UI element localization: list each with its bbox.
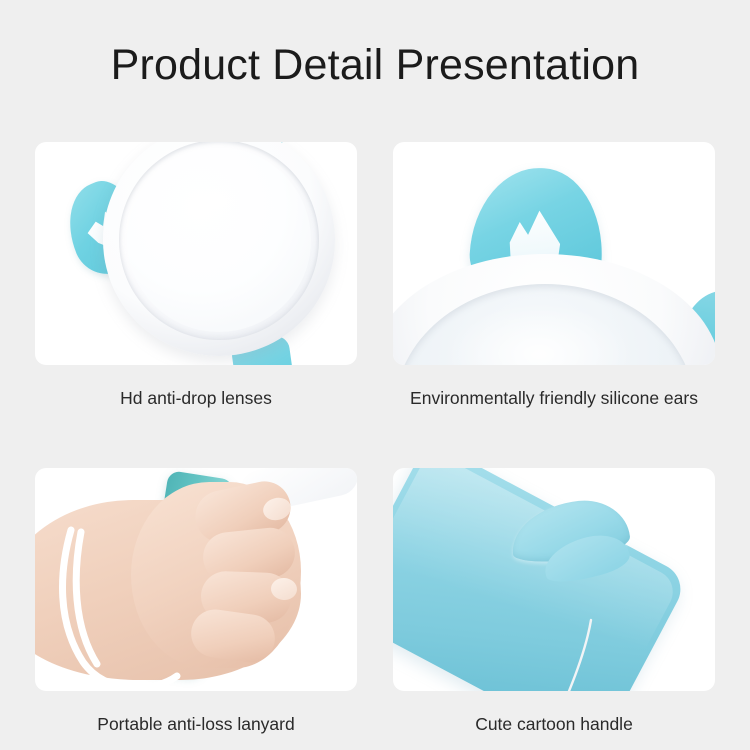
magnifier-lens-illustration <box>35 142 357 365</box>
panel-handle-photo <box>393 468 715 691</box>
panel-handle: Cute cartoon handle <box>393 468 715 734</box>
panel-ears-caption: Environmentally friendly silicone ears <box>393 365 715 408</box>
lens-highlight <box>449 304 629 365</box>
magnifier-lens-closeup <box>395 284 695 365</box>
lens-highlight <box>164 170 265 233</box>
lanyard-cord-icon <box>37 526 187 691</box>
panel-lenses-photo <box>35 142 357 365</box>
magnifier-rim <box>103 142 335 356</box>
panel-handle-caption: Cute cartoon handle <box>393 691 715 734</box>
panel-grid: Hd anti-drop lenses Environmentally f <box>35 142 715 733</box>
handle-highlight <box>393 468 680 691</box>
magnifier-rim-closeup <box>393 254 715 365</box>
page-title: Product Detail Presentation <box>0 44 750 87</box>
panel-ears-photo <box>393 142 715 365</box>
panel-lenses-caption: Hd anti-drop lenses <box>35 365 357 408</box>
silicone-ear-illustration <box>393 142 715 365</box>
panel-lanyard-photo <box>35 468 357 691</box>
cartoon-handle-body <box>393 468 690 691</box>
panel-lanyard: Portable anti-loss lanyard <box>35 468 357 734</box>
lanyard-string-icon <box>561 618 621 691</box>
cartoon-handle-illustration <box>393 468 715 691</box>
panel-lanyard-caption: Portable anti-loss lanyard <box>35 691 357 734</box>
panel-ears: Environmentally friendly silicone ears <box>393 142 715 408</box>
magnifier-lens <box>127 148 311 332</box>
product-detail-page: Product Detail Presentation <box>0 0 750 750</box>
magnifier-rim-inner <box>119 142 319 340</box>
hand-lanyard-illustration <box>35 468 357 691</box>
panel-lenses: Hd anti-drop lenses <box>35 142 357 408</box>
